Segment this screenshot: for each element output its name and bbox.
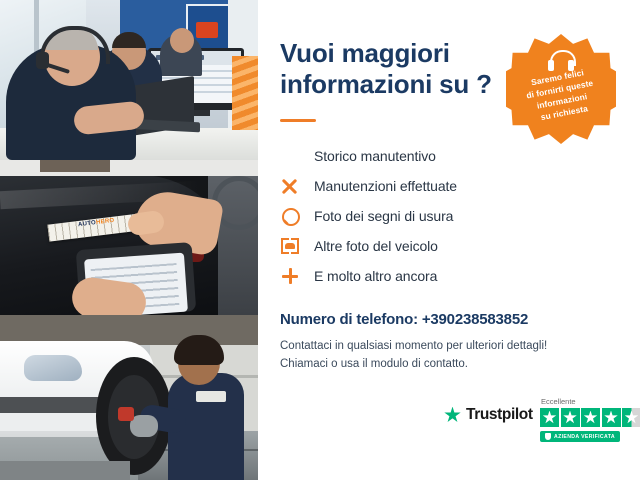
contact-subtext-line-2: Chiamaci o usa il modulo di contatto. xyxy=(280,356,590,374)
content-panel: Vuoi maggiori informazioni su ? Saremo f… xyxy=(258,0,640,480)
ceiling-shadow xyxy=(40,160,110,172)
trustpilot-widget[interactable]: Trustpilot Eccellente AZIENDA VERIFICATA xyxy=(436,394,640,450)
verified-business-badge: AZIENDA VERIFICATA xyxy=(540,431,620,442)
mechanic-wheel-inspection-photo xyxy=(0,315,258,480)
mechanic-shirt-logo xyxy=(196,391,226,402)
tools-cross-icon xyxy=(280,175,302,197)
magnifier-icon xyxy=(280,205,302,227)
rating-label: Eccellente xyxy=(541,397,640,406)
shield-icon xyxy=(545,433,551,440)
contact-subtext: Contattaci in qualsiasi momento per ulte… xyxy=(280,338,590,374)
trustpilot-wordmark: Trustpilot xyxy=(466,406,533,424)
orange-banner-decor xyxy=(232,56,258,130)
photo-column: AUTOHERO xyxy=(0,0,258,480)
feature-list: Storico manutentivo Manutenzioni effettu… xyxy=(280,141,580,291)
car-headlight xyxy=(24,355,82,381)
star-tile-2 xyxy=(561,408,580,427)
ceiling-strip xyxy=(0,160,258,176)
contact-subtext-line-1: Contattaci in qualsiasi momento per ulte… xyxy=(280,338,590,356)
star-tile-3 xyxy=(581,408,600,427)
trustpilot-rating: Eccellente AZIENDA VERIFICATA xyxy=(540,394,640,445)
poster-detail xyxy=(196,22,218,38)
list-item: Storico manutentivo xyxy=(280,141,580,171)
list-item: Foto dei segni di usura xyxy=(280,201,580,231)
third-agent-head xyxy=(170,28,194,53)
autohero-info-banner: AUTOHERO xyxy=(0,0,640,480)
inspection-tool xyxy=(118,407,134,421)
call-center-agents-photo xyxy=(0,0,258,160)
trustpilot-logo: Trustpilot xyxy=(444,406,533,424)
star-tile-1 xyxy=(540,408,559,427)
callout-badge: Saremo felici di fornirti queste informa… xyxy=(506,34,616,144)
list-item: Altre foto del veicolo xyxy=(280,231,580,261)
title-underline-accent xyxy=(280,119,316,122)
star-tile-4 xyxy=(602,408,621,427)
plus-icon xyxy=(280,265,302,287)
checkbox-checked-icon xyxy=(280,145,302,167)
car-grille xyxy=(0,397,108,413)
list-item-label: E molto altro ancora xyxy=(314,268,437,284)
autohero-ruler-inspection-photo: AUTOHERO xyxy=(0,160,258,315)
page-title: Vuoi maggiori informazioni su ? xyxy=(280,38,520,99)
rating-stars xyxy=(540,408,640,427)
list-item-label: Storico manutentivo xyxy=(314,148,436,164)
list-item-label: Altre foto del veicolo xyxy=(314,238,438,254)
phone-number-line[interactable]: Numero di telefono: +390238583852 xyxy=(280,311,528,328)
star-tile-5-half xyxy=(622,408,640,427)
list-item: E molto altro ancora xyxy=(280,261,580,291)
vehicle-lift-arm xyxy=(0,461,130,480)
verified-business-label: AZIENDA VERIFICATA xyxy=(554,434,615,440)
list-item-label: Foto dei segni di usura xyxy=(314,208,453,224)
list-item: Manutenzioni effettuate xyxy=(280,171,580,201)
trustpilot-star-icon xyxy=(444,407,461,424)
list-item-label: Manutenzioni effettuate xyxy=(314,178,457,194)
headset-earcup-left-icon xyxy=(548,60,554,71)
car-scan-frame-icon xyxy=(280,235,302,257)
mechanic-glove xyxy=(130,415,158,437)
